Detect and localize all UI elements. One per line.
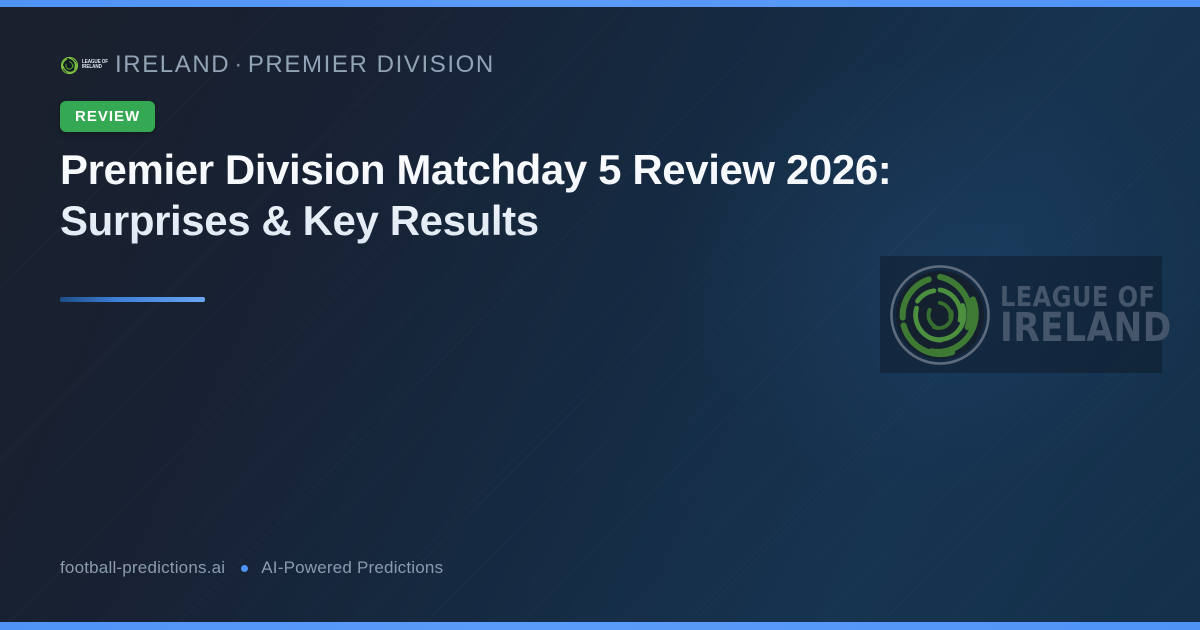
breadcrumb: LEAGUE OF IRELAND IRELAND·PREMIER DIVISI… — [60, 45, 495, 85]
footer-tagline: AI-Powered Predictions — [261, 558, 443, 578]
blue-dot-icon — [241, 565, 248, 572]
breadcrumb-country: IRELAND — [115, 51, 230, 78]
social-share-card: LEAGUE OF IRELAND IRELAND·PREMIER DIVISI… — [0, 0, 1200, 630]
crest-wordmark-line2: IRELAND — [82, 65, 108, 70]
league-logo-line2: IRELAND — [1000, 310, 1172, 347]
breadcrumb-label: IRELAND·PREMIER DIVISION — [115, 51, 495, 79]
footer-site-name: football-predictions.ai — [60, 558, 225, 578]
status-badge: REVIEW — [60, 101, 155, 132]
league-logo-wordmark: LEAGUE OF IRELAND — [1000, 282, 1200, 347]
league-logo-panel: LEAGUE OF IRELAND — [880, 256, 1162, 373]
league-of-ireland-logo-icon — [888, 263, 992, 367]
breadcrumb-competition: PREMIER DIVISION — [248, 51, 495, 78]
status-badge-label: REVIEW — [75, 108, 140, 125]
breadcrumb-separator: · — [230, 51, 248, 78]
page-title: Premier Division Matchday 5 Review 2026:… — [60, 144, 1020, 246]
title-accent-rule — [60, 297, 205, 302]
footer: football-predictions.ai AI-Powered Predi… — [60, 556, 443, 580]
league-of-ireland-crest-icon: LEAGUE OF IRELAND — [60, 52, 102, 78]
crest-wordmark: LEAGUE OF IRELAND — [82, 60, 110, 70]
